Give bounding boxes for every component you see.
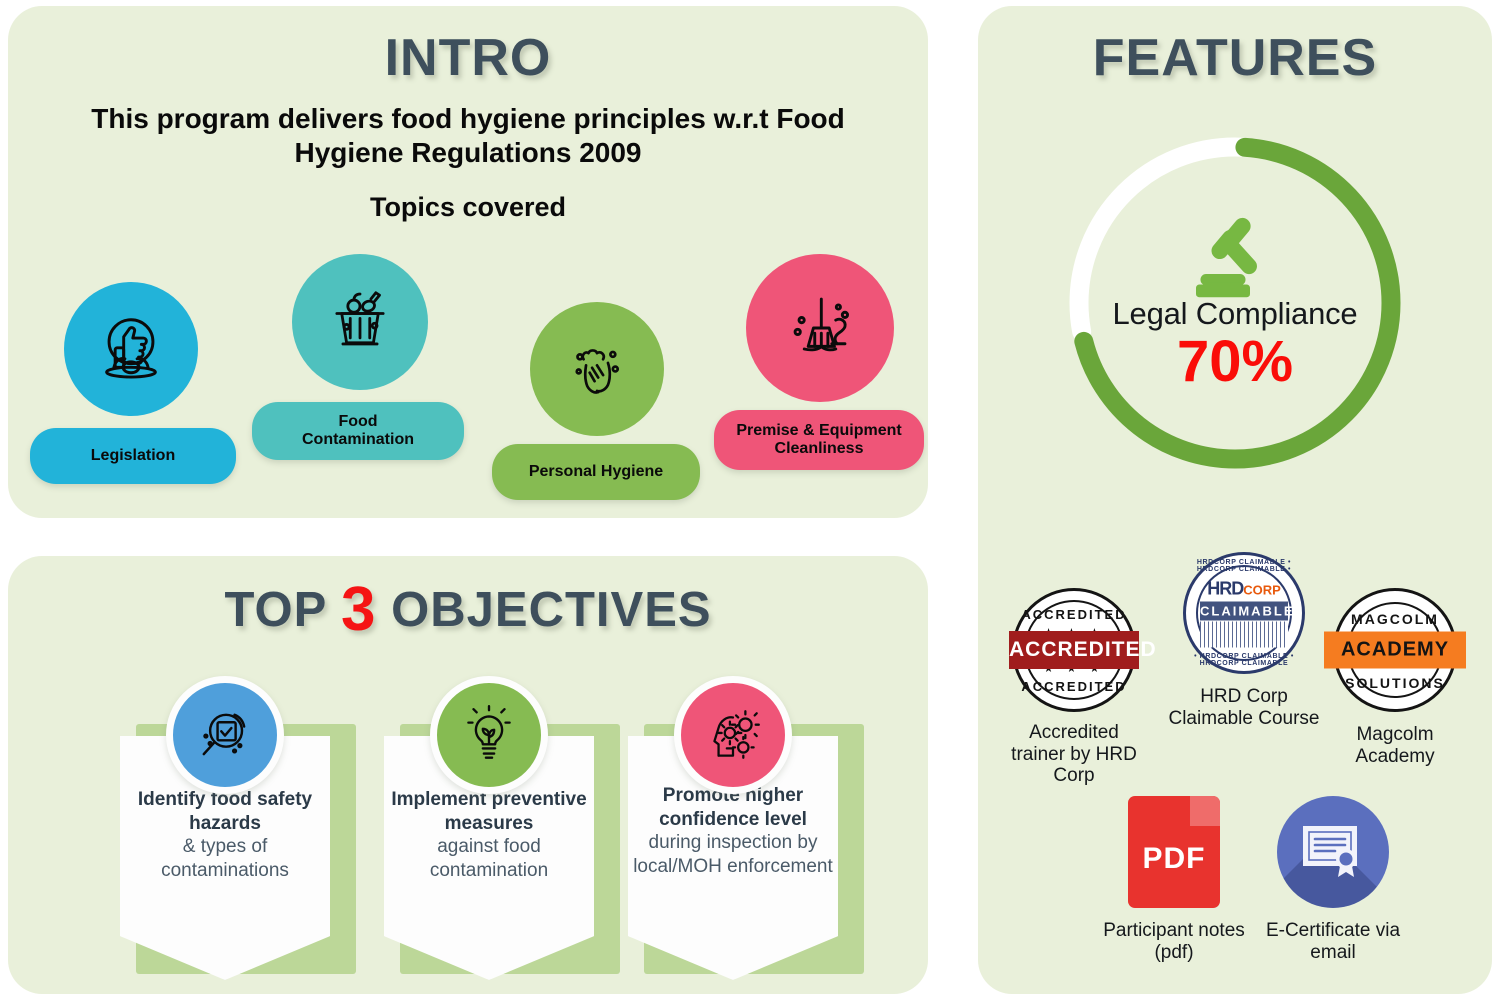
topic-label-legislation: Legislation	[30, 428, 236, 484]
features-title: FEATURES	[978, 6, 1492, 88]
certificate-glyph	[1296, 818, 1370, 886]
hrd-logo-block: HRDCORP CLAIMABLE	[1200, 579, 1288, 648]
topic-legislation[interactable]: Legislation	[30, 282, 250, 502]
topic-food-contamination[interactable]: Food Contamination	[252, 254, 478, 474]
legal-compliance-gauge: Legal Compliance 70%	[1060, 128, 1410, 478]
hrd-corp-claimable-stamp-icon: HRDCORP CLAIMABLE • HRDCORP CLAIMABLE • …	[1183, 552, 1305, 674]
stamp-arc-bottom: ACCREDITED	[1015, 679, 1133, 694]
objective-text-2: Implement preventive measures against fo…	[384, 788, 594, 882]
pdf-file-icon: PDF	[1128, 796, 1220, 908]
gauge-label: Legal Compliance	[1113, 296, 1358, 332]
objective-rest-2: against food contamination	[384, 835, 594, 882]
stamp-arc-top: ACCREDITED	[1015, 607, 1133, 622]
topic-label-premise-equipment-cleanliness: Premise & Equipment Cleanliness	[714, 410, 924, 470]
hrd-micro-bottom: • HRDCORP CLAIMABLE • HRDCORP CLAIMABLE	[1186, 653, 1302, 667]
objectives-card: TOP 3 OBJECTIVES Identify food safety ha…	[8, 556, 928, 994]
intro-subtitle: Topics covered	[8, 192, 928, 223]
objective-rest-3: during inspection by local/MOH enforceme…	[628, 831, 838, 878]
deliverable-participant-notes[interactable]: PDF Participant notes (pdf)	[1098, 796, 1250, 963]
hrd-barcode-graphic	[1200, 622, 1288, 648]
deliverable-caption-pdf: Participant notes (pdf)	[1098, 920, 1250, 963]
broom-cleaning-icon	[746, 254, 894, 402]
objective-text-3: Promote higher confidence level during i…	[628, 784, 838, 878]
objective-bold-1: Identify food safety hazards	[120, 788, 330, 835]
gauge-value: 70%	[1177, 332, 1293, 393]
hrd-logo-corp: CORP	[1243, 583, 1281, 598]
hrd-micro-top: HRDCORP CLAIMABLE • HRDCORP CLAIMABLE •	[1186, 559, 1302, 573]
objectives-title-suffix: OBJECTIVES	[391, 583, 711, 637]
hrd-logo-sub: CLAIMABLE	[1200, 602, 1288, 621]
certificate-icon	[1277, 796, 1389, 908]
objective-rest-1: & types of contaminations	[120, 835, 330, 882]
badge-hrd-corp-claimable[interactable]: HRDCORP CLAIMABLE • HRDCORP CLAIMABLE • …	[1168, 552, 1320, 729]
infographic-page: INTRO This program delivers food hygiene…	[0, 0, 1500, 1000]
gauge-center-content: Legal Compliance 70%	[1060, 128, 1410, 478]
lightbulb-leaf-icon	[430, 676, 548, 794]
objective-bold-2: Implement preventive measures	[384, 788, 594, 835]
intro-title: INTRO	[8, 6, 928, 88]
intro-lead-text: This program delivers food hygiene princ…	[8, 102, 928, 170]
objective-text-1: Identify food safety hazards & types of …	[120, 788, 330, 882]
magcolm-ribbon: ACADEMY	[1324, 632, 1466, 669]
badge-accredited-trainer[interactable]: ACCREDITED ★ ★ ★ ACCREDITED ★ ★ ★ ACCRED…	[1000, 588, 1148, 787]
pdf-badge-text: PDF	[1143, 842, 1206, 876]
badge-caption-magcolm: Magcolm Academy	[1320, 724, 1470, 767]
topic-label-food-contamination: Food Contamination	[252, 402, 464, 460]
hand-washing-icon	[530, 302, 664, 436]
hrd-logo-text: HRDCORP	[1200, 579, 1288, 600]
accredited-stamp-icon: ACCREDITED ★ ★ ★ ACCREDITED ★ ★ ★ ACCRED…	[1012, 588, 1136, 712]
topic-label-personal-hygiene: Personal Hygiene	[492, 444, 700, 500]
topic-personal-hygiene[interactable]: Personal Hygiene	[492, 302, 708, 502]
hrd-logo-main: HRD	[1207, 579, 1243, 599]
pdf-corner-fold	[1190, 796, 1220, 826]
gavel-icon	[1186, 214, 1284, 298]
badge-magcolm-academy[interactable]: MAGCOLM ACADEMY SOLUTIONS Magcolm Academ…	[1320, 588, 1470, 767]
food-waste-bin-icon	[292, 254, 428, 390]
deliverable-e-certificate[interactable]: E-Certificate via email	[1254, 796, 1412, 963]
head-gears-icon	[674, 676, 792, 794]
stamp-ribbon: ACCREDITED	[1009, 631, 1139, 669]
magnifier-checklist-icon	[166, 676, 284, 794]
magcolm-arc-top: MAGCOLM	[1336, 611, 1454, 627]
badge-caption-hrd-corp: HRD Corp Claimable Course	[1168, 686, 1320, 729]
badge-caption-accredited: Accredited trainer by HRD Corp	[1000, 722, 1148, 787]
magcolm-arc-bottom: SOLUTIONS	[1336, 675, 1454, 691]
intro-card: INTRO This program delivers food hygiene…	[8, 6, 928, 518]
objectives-title-prefix: TOP	[224, 583, 326, 637]
deliverable-caption-certificate: E-Certificate via email	[1254, 920, 1412, 963]
objectives-title-number: 3	[341, 575, 376, 644]
magcolm-academy-stamp-icon: MAGCOLM ACADEMY SOLUTIONS	[1333, 588, 1457, 712]
objectives-title: TOP 3 OBJECTIVES	[8, 556, 928, 645]
topic-premise-equipment-cleanliness[interactable]: Premise & Equipment Cleanliness	[714, 254, 930, 464]
thumbs-up-food-icon	[64, 282, 198, 416]
